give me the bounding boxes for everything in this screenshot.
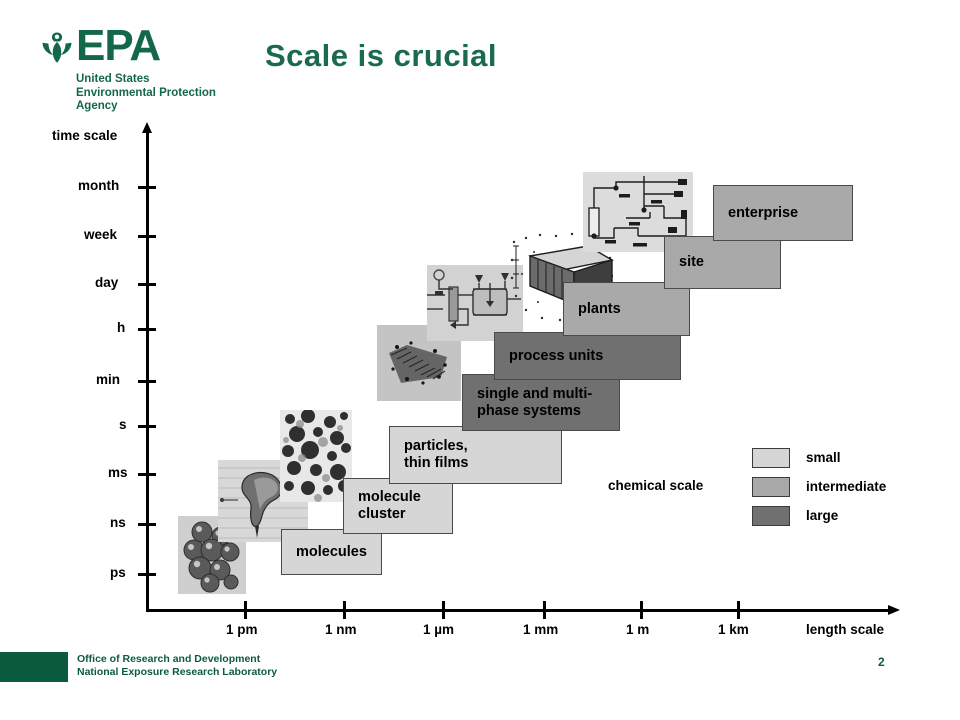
legend-swatch-large: [752, 506, 790, 526]
page-title: Scale is crucial: [265, 38, 685, 74]
footer-organization: Office of Research and Development Natio…: [77, 653, 277, 679]
page-number: 2: [878, 655, 885, 669]
legend-swatch-intermediate: [752, 477, 790, 497]
footer-accent-bar: [0, 652, 68, 682]
legend-label-intermediate: intermediate: [806, 479, 886, 494]
legend-label-large: large: [806, 508, 838, 523]
epa-acronym: EPA: [76, 24, 160, 68]
legend-label-small: small: [806, 450, 841, 465]
legend-title: chemical scale: [608, 478, 703, 493]
epa-logo: EPA United States Environmental Protecti…: [40, 28, 270, 113]
legend-swatch-small: [752, 448, 790, 468]
legend: chemical scale small intermediate large: [0, 110, 960, 640]
epa-seal-icon: [40, 30, 74, 64]
epa-agency-name: United States Environmental Protection A…: [76, 73, 216, 114]
scale-diagram: molecules molecule cluster particles, th…: [0, 110, 960, 640]
